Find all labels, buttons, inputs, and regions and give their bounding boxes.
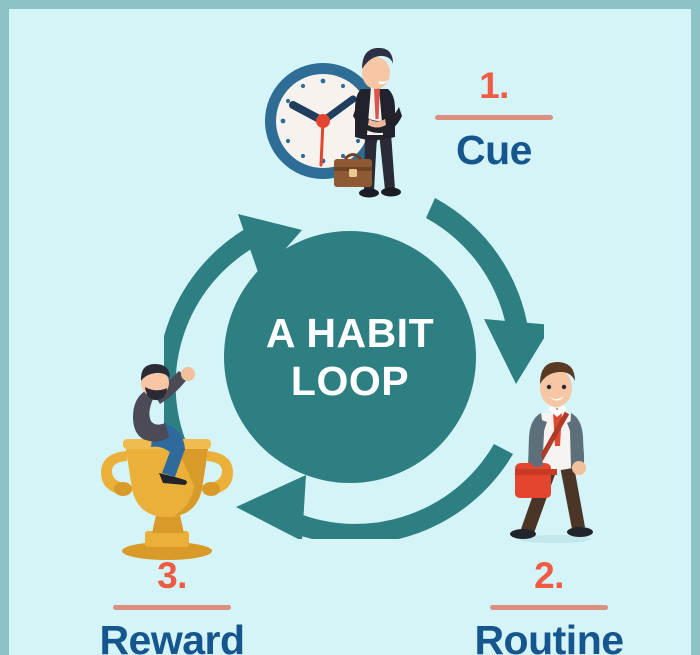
step-divider-routine	[490, 605, 608, 610]
step-divider-cue	[435, 115, 553, 120]
loop-center-circle	[224, 231, 476, 483]
walking-businessman-illustration	[493, 357, 611, 549]
step-label-reward: 3. Reward	[77, 557, 267, 655]
step-title-routine: Routine	[474, 619, 623, 655]
step-number-routine: 2.	[534, 557, 564, 594]
step-title-reward: Reward	[99, 619, 244, 655]
step-divider-reward	[113, 605, 231, 610]
habit-loop-infographic: A HABIT LOOP	[0, 0, 700, 655]
man-sitting-on-trophy-illustration	[87, 361, 247, 561]
step-label-cue: 1. Cue	[399, 67, 589, 172]
step-number-reward: 3.	[157, 557, 187, 594]
step-title-cue: Cue	[456, 129, 532, 172]
step-label-routine: 2. Routine	[454, 557, 644, 655]
step-number-cue: 1.	[479, 67, 509, 104]
